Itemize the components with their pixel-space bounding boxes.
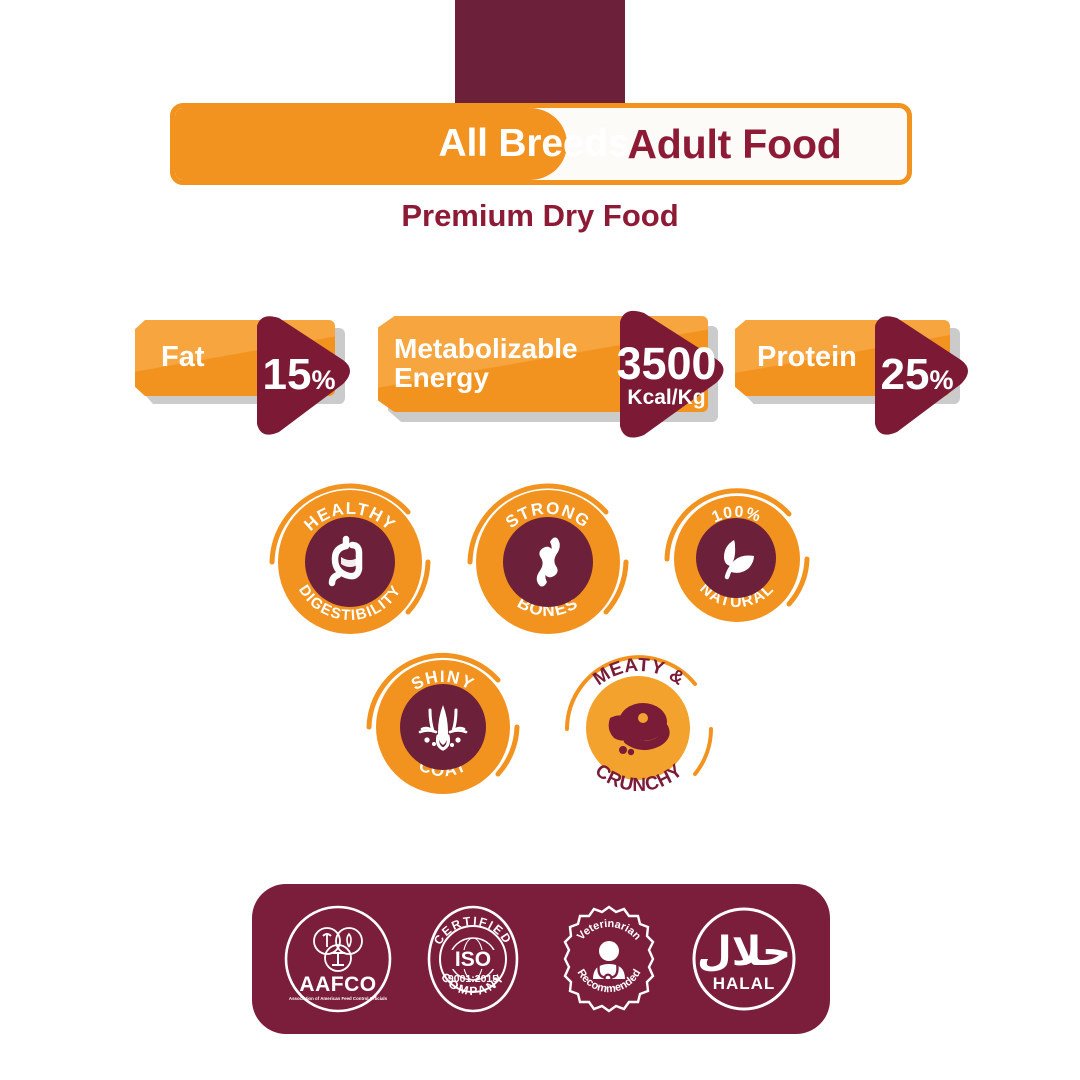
hair-follicle-icon (412, 696, 474, 758)
benefit-healthy-digestibility: HEALTHY DIGESTIBILITY (270, 482, 430, 642)
protein-value: 25 (881, 350, 930, 400)
vet-top-text: Veterinarian (575, 918, 643, 943)
halal-icon: حلال HALAL (688, 903, 800, 1015)
benefit-meaty-crunchy: MEATY & CRUNCHY (568, 658, 710, 800)
cert-badge-iso: CERTIFIED COMPANY ISO 9001:2015 (417, 903, 529, 1015)
benefit-badges: HEALTHY DIGESTIBILITY (0, 470, 1080, 810)
fat-value: 15 (263, 350, 312, 400)
nutrition-badge-protein: Protein 25% (735, 310, 950, 440)
energy-value: 3500 (616, 338, 716, 390)
nutrition-badge-fat: Fat 15% (135, 310, 335, 440)
premium-dry-food-subtitle: Premium Dry Food (0, 198, 1080, 234)
protein-unit: % (929, 365, 953, 396)
iso-certified-icon: CERTIFIED COMPANY ISO 9001:2015 (417, 903, 529, 1015)
halal-title: HALAL (713, 974, 776, 993)
header-banner: All Breeds Adult Food (170, 103, 912, 185)
energy-value-text: 3500 Kcal/Kg (596, 304, 731, 444)
stomach-icon (319, 531, 381, 593)
energy-unit: Kcal/Kg (627, 386, 705, 410)
icon-well (305, 517, 395, 607)
energy-value-triangle: 3500 Kcal/Kg (596, 304, 731, 444)
benefit-shiny-coat: SHINY COAT (368, 652, 518, 802)
fat-value-triangle: 15% (235, 310, 357, 440)
cert-badge-halal: حلال HALAL (688, 903, 800, 1015)
iso-standard: 9001:2015 (448, 973, 498, 985)
energy-label-line2: Energy (394, 364, 578, 393)
icon-well (400, 684, 486, 770)
icon-well (696, 518, 776, 598)
meat-cuts-icon (598, 688, 678, 768)
nutrition-badge-metabolizable-energy: Metabolizable Energy 3500 Kcal/Kg (378, 304, 708, 434)
svg-text:MEATY &: MEATY & (589, 658, 688, 690)
energy-label-line1: Metabolizable (394, 335, 578, 364)
aafco-title: AAFCO (299, 973, 376, 996)
veterinarian-recommended-icon: Veterinarian Recommended (553, 903, 665, 1015)
header-top-tab (455, 0, 625, 110)
cert-badge-veterinarian-recommended: Veterinarian Recommended (553, 903, 665, 1015)
protein-value-text: 25% (853, 310, 975, 440)
bone-joint-icon (516, 530, 580, 594)
nutrition-badges: Fat 15% Metabolizable Energy (0, 300, 1080, 450)
all-breeds-label: All Breeds (175, 108, 907, 180)
poster-canvas: All Breeds Adult Food Premium Dry Food F… (0, 0, 1080, 1080)
aafco-icon: AAFCO Association of American Feed Contr… (282, 903, 394, 1015)
protein-value-triangle: 25% (853, 310, 975, 440)
benefit-100-natural: 100% NATURAL (666, 488, 808, 630)
svg-text:Veterinarian: Veterinarian (575, 918, 643, 943)
fat-value-text: 15% (235, 310, 357, 440)
certification-list: AAFCO Association of American Feed Contr… (252, 884, 830, 1034)
aafco-caption: Association of American Feed Control Off… (289, 996, 388, 1001)
halal-arabic: حلال (697, 930, 791, 974)
leaf-icon (708, 530, 764, 586)
icon-well (503, 517, 593, 607)
benefit-strong-bones: STRONG BONES (468, 482, 628, 642)
meaty-top-text: MEATY & (589, 658, 688, 690)
certification-bar: AAFCO Association of American Feed Contr… (252, 884, 830, 1034)
cert-badge-aafco: AAFCO Association of American Feed Contr… (282, 903, 394, 1015)
iso-title: ISO (455, 948, 491, 971)
fat-unit: % (311, 365, 335, 396)
